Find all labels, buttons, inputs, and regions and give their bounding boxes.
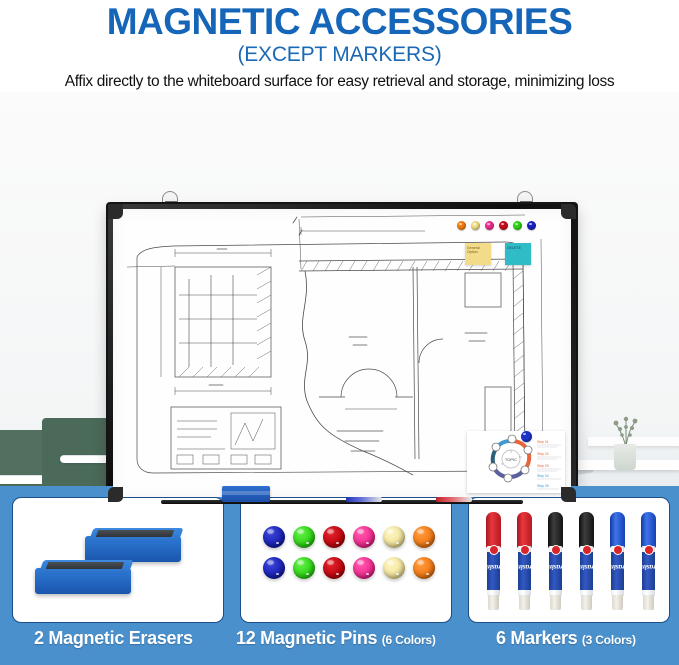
magnet-blue-poster[interactable] <box>521 431 532 442</box>
marker-black-1[interactable]: Erasing <box>547 512 564 610</box>
marker-blue-1[interactable]: Erasing <box>609 512 626 610</box>
poster-center-label: TOPIC <box>505 457 517 462</box>
eraser-item-1[interactable] <box>85 528 181 562</box>
pin-red-1[interactable] <box>323 526 345 548</box>
erasers-caption: 2 Magnetic Erasers <box>34 628 193 649</box>
svg-text:Step 01: Step 01 <box>537 440 549 444</box>
markers-caption: 6 Markers (3 Colors) <box>496 628 636 649</box>
erasers-panel <box>12 497 224 623</box>
whiteboard-tray <box>106 493 578 504</box>
page-tagline: Affix directly to the whiteboard surface… <box>0 71 679 93</box>
marker-badge-icon <box>552 546 560 554</box>
pin-yellow-2[interactable] <box>383 557 405 579</box>
header: MAGNETIC ACCESSORIES (EXCEPT MARKERS) Af… <box>0 0 679 92</box>
sticky-note-yellow-text: General Option <box>467 246 480 254</box>
magnet-red[interactable] <box>499 221 508 230</box>
marker-cap-black <box>579 512 594 548</box>
frame-corner-top-right <box>561 204 576 219</box>
sticky-note-teal[interactable]: DELETE <box>505 243 531 265</box>
pins-panel <box>240 497 452 623</box>
marker-cap-red <box>486 512 501 548</box>
tray-marker-blue[interactable] <box>346 497 382 502</box>
marker-cap-blue <box>610 512 625 548</box>
tray-eraser[interactable] <box>222 486 270 502</box>
page-title: MAGNETIC ACCESSORIES <box>0 0 679 42</box>
eraser-item-2[interactable] <box>35 560 131 594</box>
pin-yellow-1[interactable] <box>383 526 405 548</box>
pin-pink-2[interactable] <box>353 557 375 579</box>
sticky-note-yellow[interactable]: General Option <box>465 243 491 265</box>
marker-cap-blue <box>641 512 656 548</box>
marker-badge-icon <box>521 546 529 554</box>
tray-marker-red[interactable] <box>436 497 472 502</box>
marker-badge-icon <box>614 546 622 554</box>
marker-brand-text: Erasing <box>630 563 668 572</box>
plant-pot <box>614 444 636 470</box>
marker-badge-icon <box>645 546 653 554</box>
marker-red-1[interactable]: Erasing <box>485 512 502 610</box>
product-infographic: MAGNETIC ACCESSORIES (EXCEPT MARKERS) Af… <box>0 0 679 665</box>
marker-blue-2[interactable]: Erasing <box>640 512 657 610</box>
pin-orange-1[interactable] <box>413 526 435 548</box>
pin-blue-2[interactable] <box>263 557 285 579</box>
cycle-infographic-poster[interactable]: TOPIC Step 01Step 02 Step 03 <box>467 431 565 493</box>
whiteboard-frame: General Option DELETE <box>106 202 578 504</box>
markers-row: Erasing Erasing Erasing Erasing Erasing <box>485 512 657 612</box>
markers-caption-main: 6 Markers <box>496 628 577 648</box>
markers-panel: Erasing Erasing Erasing Erasing Erasing <box>468 497 670 623</box>
marker-black-2[interactable]: Erasing <box>578 512 595 610</box>
page-subtitle: (EXCEPT MARKERS) <box>0 42 679 68</box>
svg-text:Step 03: Step 03 <box>537 464 549 468</box>
sticky-note-teal-text: DELETE <box>507 246 521 250</box>
pins-caption-main: 12 Magnetic Pins <box>236 628 377 648</box>
pins-grid <box>263 526 433 579</box>
svg-text:Step 02: Step 02 <box>537 452 549 456</box>
marker-badge-icon <box>490 546 498 554</box>
magnet-yellow[interactable] <box>471 221 480 230</box>
office-scene: General Option DELETE <box>0 92 679 504</box>
magnet-pink[interactable] <box>485 221 494 230</box>
magnet-green[interactable] <box>513 221 522 230</box>
pins-caption-sub: (6 Colors) <box>382 633 436 647</box>
marker-cap-red <box>517 512 532 548</box>
pin-green-2[interactable] <box>293 557 315 579</box>
pins-caption: 12 Magnetic Pins (6 Colors) <box>236 628 436 649</box>
pin-orange-2[interactable] <box>413 557 435 579</box>
erasers-caption-main: 2 Magnetic Erasers <box>34 628 193 648</box>
marker-red-2[interactable]: Erasing <box>516 512 533 610</box>
svg-text:Step 04: Step 04 <box>537 474 549 478</box>
pin-green-1[interactable] <box>293 526 315 548</box>
frame-corner-top-left <box>108 204 123 219</box>
magnet-orange[interactable] <box>457 221 466 230</box>
pin-red-2[interactable] <box>323 557 345 579</box>
markers-caption-sub: (3 Colors) <box>582 633 636 647</box>
marker-badge-icon <box>583 546 591 554</box>
svg-text:Step 05: Step 05 <box>537 484 549 488</box>
pin-pink-1[interactable] <box>353 526 375 548</box>
magnet-blue[interactable] <box>527 221 536 230</box>
marker-cap-black <box>548 512 563 548</box>
whiteboard-surface: General Option DELETE <box>113 209 571 497</box>
pin-blue-1[interactable] <box>263 526 285 548</box>
